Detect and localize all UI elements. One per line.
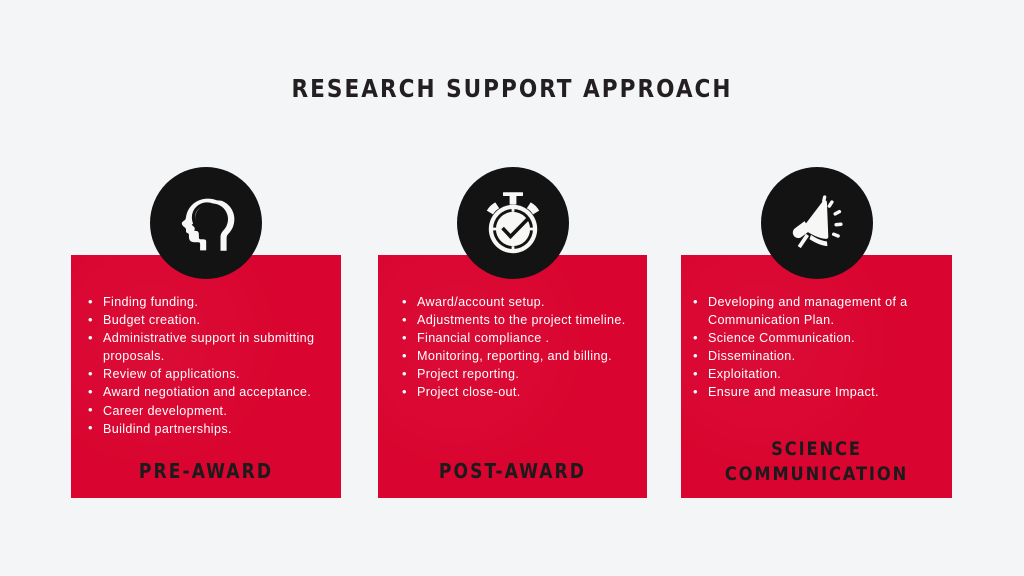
list-item: Developing and management of a Communica… (693, 293, 944, 329)
card-label-pre-award: PRE-AWARD (78, 459, 335, 484)
card-label-line: PRE-AWARD (78, 459, 335, 484)
list-item: Financial compliance . (402, 329, 637, 347)
bullet-list: Finding funding. Budget creation. Admini… (71, 293, 341, 438)
list-item: Review of applications. (88, 365, 335, 383)
list-item: Award/account setup. (402, 293, 637, 311)
list-item: Science Communication. (693, 329, 944, 347)
bullet-list: Developing and management of a Communica… (681, 293, 952, 402)
stopwatch-checkmark-icon (457, 167, 569, 279)
column-science-communication[interactable]: Developing and management of a Communica… (681, 255, 952, 498)
list-item: Project close-out. (402, 383, 637, 401)
column-post-award[interactable]: Award/account setup. Adjustments to the … (378, 255, 647, 498)
card-label-post-award: POST-AWARD (385, 459, 641, 484)
columns-container: Finding funding. Budget creation. Admini… (0, 0, 1024, 576)
card-label-line: COMMUNICATION (688, 462, 945, 487)
list-item: Ensure and measure Impact. (693, 383, 944, 401)
slide-canvas: RESEARCH SUPPORT APPROACH Find (0, 0, 1024, 576)
list-item: Monitoring, reporting, and billing. (402, 347, 637, 365)
megaphone-icon (761, 167, 873, 279)
column-pre-award[interactable]: Finding funding. Budget creation. Admini… (71, 255, 341, 498)
card-label-line: POST-AWARD (385, 459, 641, 484)
list-item: Buildind partnerships. (88, 420, 335, 438)
list-item: Career development. (88, 402, 335, 420)
list-item: Award negotiation and acceptance. (88, 383, 335, 401)
list-item: Dissemination. (693, 347, 944, 365)
list-item: Budget creation. (88, 311, 335, 329)
list-item: Exploitation. (693, 365, 944, 383)
list-item: Adjustments to the project timeline. (402, 311, 637, 329)
list-item: Finding funding. (88, 293, 335, 311)
card-label-science-communication: SCIENCE COMMUNICATION (688, 437, 945, 487)
list-item: Project reporting. (402, 365, 637, 383)
head-question-mark-icon (150, 167, 262, 279)
card-label-line: SCIENCE (688, 437, 945, 462)
list-item: Administrative support in submitting pro… (88, 329, 335, 365)
bullet-list: Award/account setup. Adjustments to the … (378, 293, 647, 402)
